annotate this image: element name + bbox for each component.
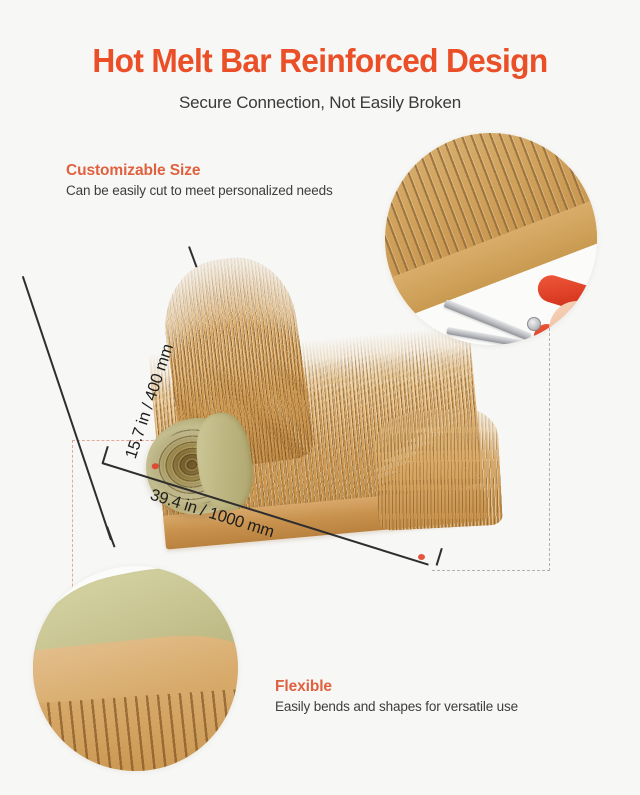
page-subtitle: Secure Connection, Not Easily Broken <box>0 93 640 113</box>
feature-title: Customizable Size <box>66 162 333 180</box>
page-title: Hot Melt Bar Reinforced Design <box>13 44 627 77</box>
infographic-canvas: Hot Melt Bar Reinforced Design Secure Co… <box>0 0 640 795</box>
feature-flexible: Flexible Easily bends and shapes for ver… <box>275 678 518 715</box>
scissors-icon <box>445 273 595 345</box>
dimension-cap-right <box>436 548 443 566</box>
detail-circle-flex-demo <box>33 566 238 771</box>
dimension-label-length: 39.4 in / 1000 mm <box>148 486 277 542</box>
feature-title: Flexible <box>275 678 518 696</box>
feature-description: Can be easily cut to meet personalized n… <box>66 183 333 199</box>
hand-holding-scissors <box>545 297 597 345</box>
feature-description: Easily bends and shapes for versatile us… <box>275 699 518 715</box>
dimension-line <box>102 462 429 565</box>
dimension-line <box>22 276 112 540</box>
detail-circle-cut-demo <box>385 133 597 345</box>
feature-customizable-size: Customizable Size Can be easily cut to m… <box>66 162 333 199</box>
scissor-pivot-screw <box>527 317 541 331</box>
